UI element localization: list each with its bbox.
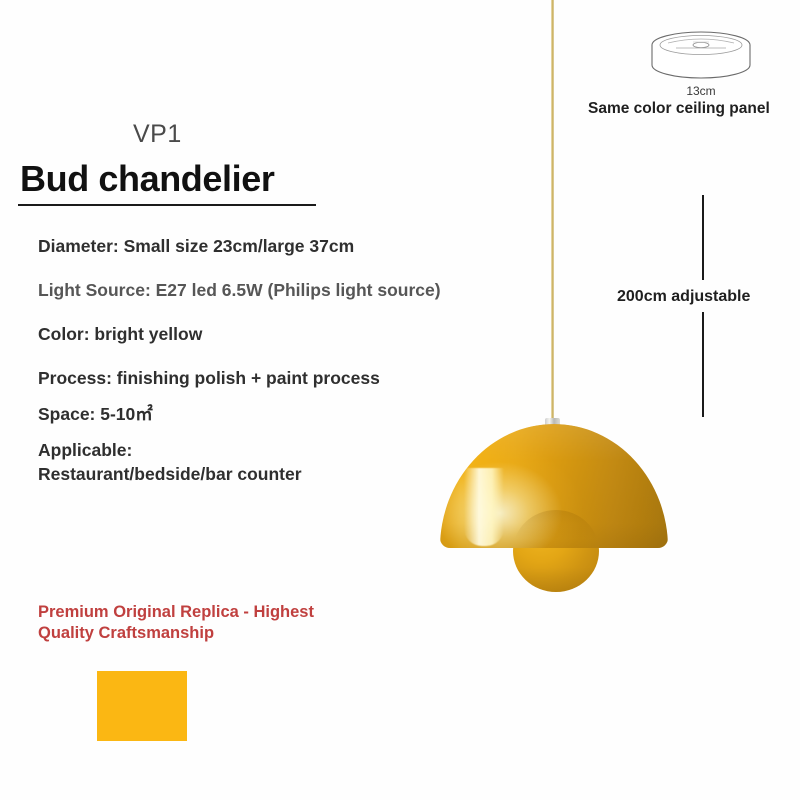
spec-diameter: Diameter: Small size 23cm/large 37cm xyxy=(38,236,518,258)
product-infographic: VP1 Bud chandelier Diameter: Small size … xyxy=(0,0,800,800)
page-title: Bud chandelier xyxy=(20,158,274,200)
measure-line-icon-bottom xyxy=(702,312,704,417)
product-model-name: VP1 xyxy=(133,120,182,149)
cord-length-label: 200cm adjustable xyxy=(614,286,753,308)
hanging-cord xyxy=(551,0,554,425)
color-swatch xyxy=(97,671,187,741)
lamp-highlight xyxy=(464,468,504,546)
quality-tagline: Premium Original Replica - Highest Quali… xyxy=(38,602,398,645)
ceiling-panel-caption: Same color ceiling panel xyxy=(588,100,770,118)
pendant-lamp xyxy=(440,424,672,596)
spec-space: Space: 5-10㎡ xyxy=(38,404,518,426)
canopy-dimension-label: 13cm xyxy=(645,84,757,98)
title-underline xyxy=(18,204,316,206)
spec-color: Color: bright yellow xyxy=(38,324,518,346)
spec-process: Process: finishing polish + paint proces… xyxy=(38,368,518,390)
lamp-bud-shading xyxy=(513,510,599,592)
dimension-arrow-icon: 13cm xyxy=(645,84,757,100)
ceiling-panel-icon xyxy=(648,30,754,84)
spec-light-source: Light Source: E27 led 6.5W (Philips ligh… xyxy=(38,280,518,302)
measure-line-icon-top xyxy=(702,195,704,280)
